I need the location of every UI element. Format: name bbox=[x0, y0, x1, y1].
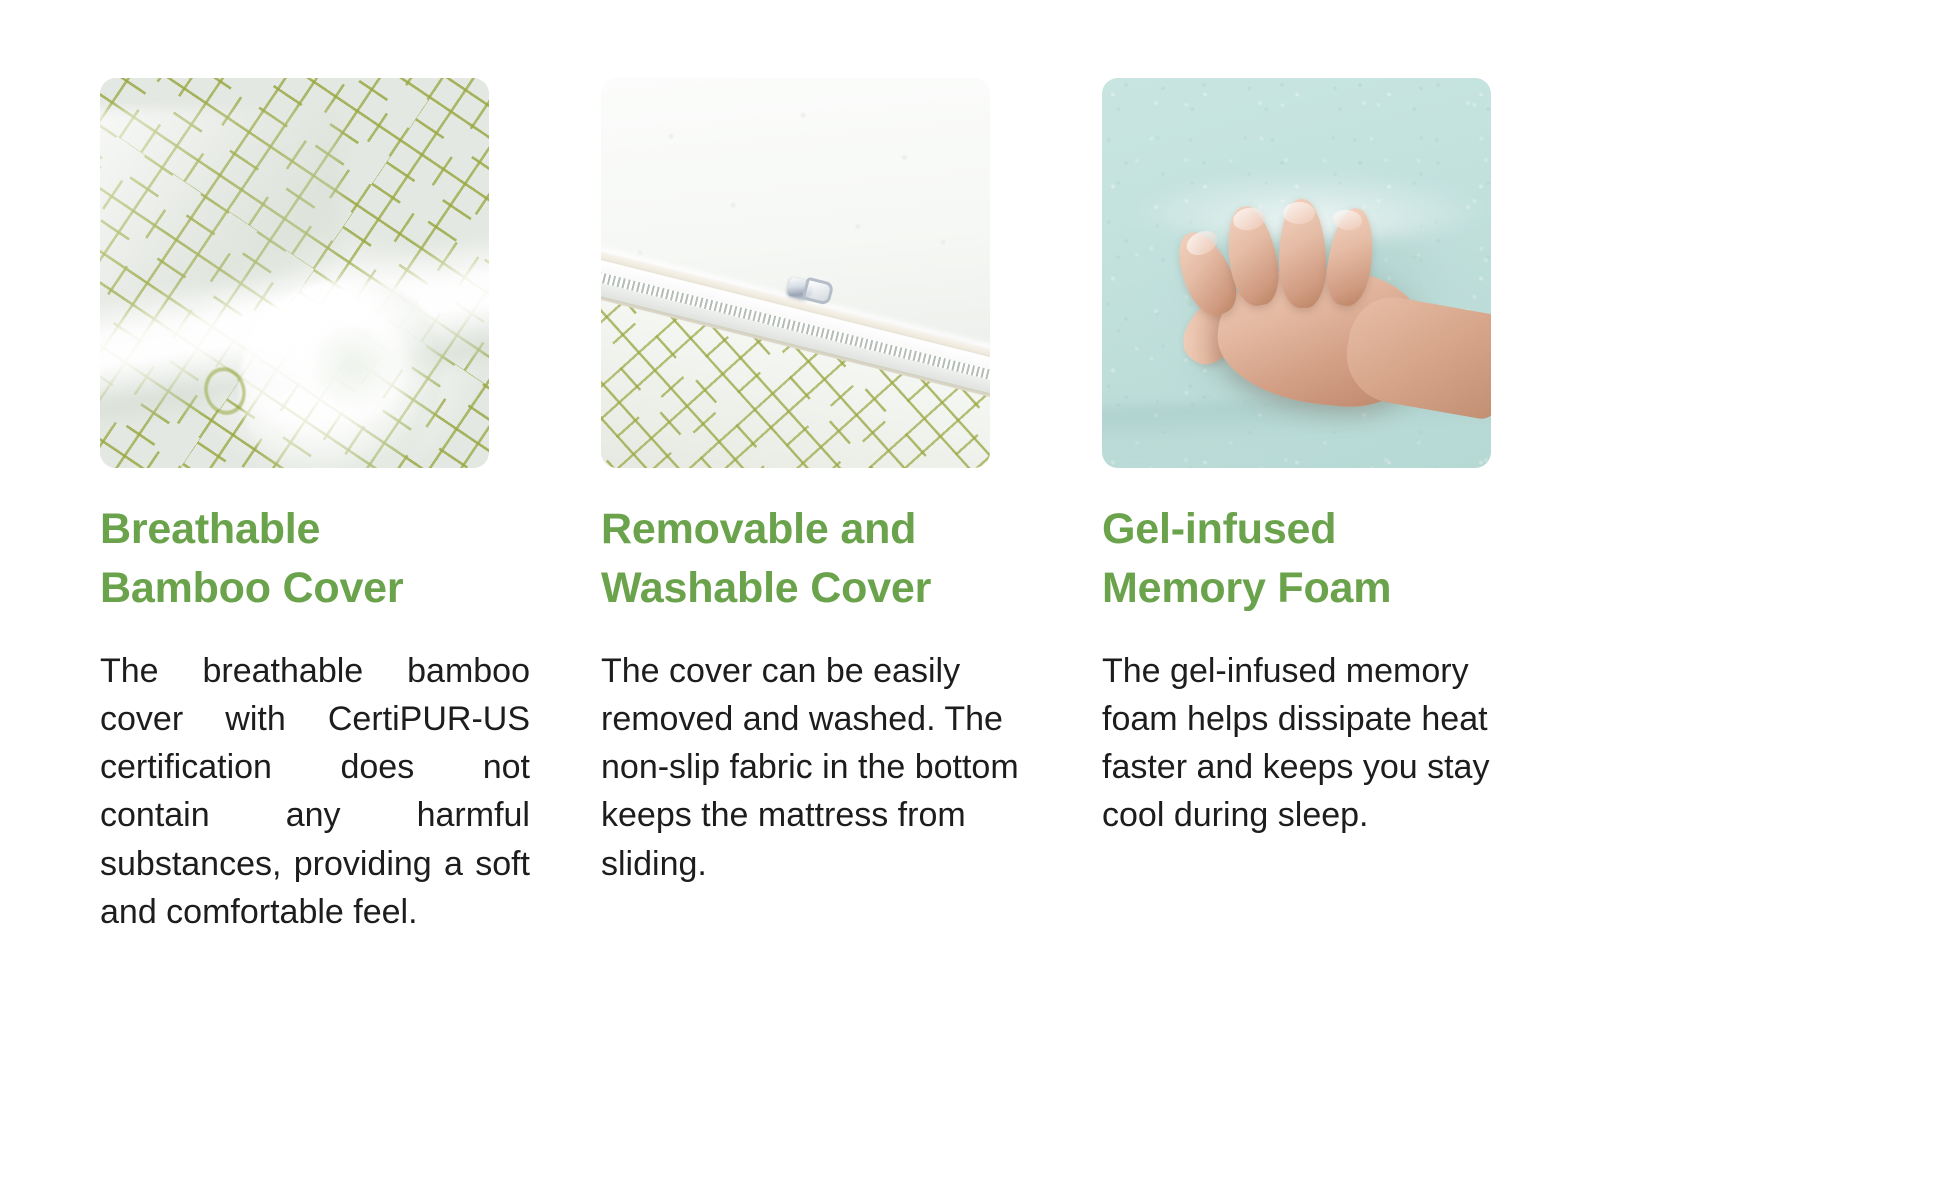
hand-icon bbox=[1125, 195, 1483, 413]
feature-body-memory-foam: The gel-infused memory foam helps dissip… bbox=[1102, 647, 1532, 840]
feature-body-washable-cover: The cover can be easily removed and wash… bbox=[601, 647, 1031, 888]
feature-heading-bamboo-cover: Breathable Bamboo Cover bbox=[100, 500, 500, 619]
feature-column-washable-cover: Removable and Washable Cover The cover c… bbox=[601, 78, 1078, 936]
bamboo-cover-photo bbox=[100, 78, 489, 468]
product-feature-panel: Breathable Bamboo Cover The breathable b… bbox=[0, 0, 1940, 1200]
nail-ring bbox=[1283, 201, 1316, 223]
bamboo-fold-center bbox=[295, 304, 412, 429]
feature-column-memory-foam: Gel-infused Memory Foam The gel-infused … bbox=[1102, 78, 1579, 936]
feature-grid: Breathable Bamboo Cover The breathable b… bbox=[100, 78, 1580, 936]
washable-cover-photo bbox=[601, 78, 990, 468]
feature-body-bamboo-cover: The breathable bamboo cover with CertiPU… bbox=[100, 647, 530, 937]
feature-column-bamboo-cover: Breathable Bamboo Cover The breathable b… bbox=[100, 78, 577, 936]
feature-heading-washable-cover: Removable and Washable Cover bbox=[601, 500, 1001, 619]
feature-heading-memory-foam: Gel-infused Memory Foam bbox=[1102, 500, 1502, 619]
memory-foam-photo bbox=[1102, 78, 1491, 468]
